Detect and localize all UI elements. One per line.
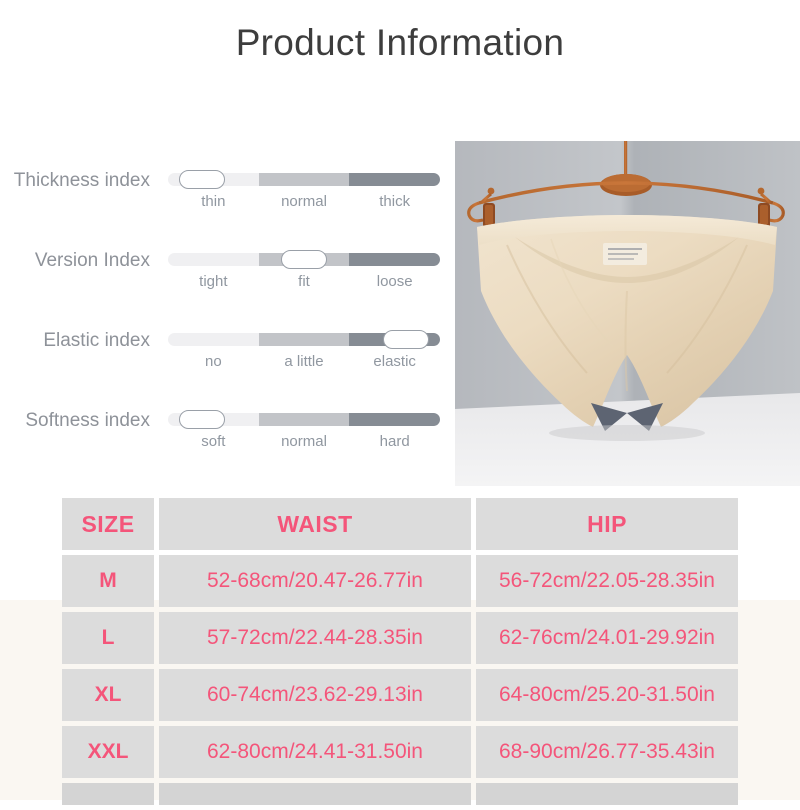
tick-label: hard [349, 433, 440, 450]
cell-size: M [62, 555, 154, 607]
tick-label: loose [349, 273, 440, 290]
cell-size [62, 783, 154, 805]
tick-label: thin [168, 193, 259, 210]
cell-size: L [62, 612, 154, 664]
slider-tick-labels: soft normal hard [168, 433, 440, 450]
slider-tick-labels: tight fit loose [168, 273, 440, 290]
tick-label: thick [349, 193, 440, 210]
cell-waist: 62-80cm/24.41-31.50in [159, 726, 471, 778]
index-row-thickness: Thickness index thin normal thick [0, 160, 455, 240]
index-label: Version Index [0, 250, 150, 272]
slider-knob[interactable] [383, 330, 429, 349]
tick-label: a little [259, 353, 350, 370]
cell-size: XL [62, 669, 154, 721]
index-label: Softness index [0, 410, 150, 432]
table-row: L 57-72cm/22.44-28.35in 62-76cm/24.01-29… [62, 612, 738, 664]
track-segment-mid [259, 333, 350, 346]
product-information-page: Product Information Thickness index thin… [0, 0, 800, 800]
table-row: XL 60-74cm/23.62-29.13in 64-80cm/25.20-3… [62, 669, 738, 721]
cell-hip [476, 783, 738, 805]
table-header-row: SIZE WAIST HIP [62, 498, 738, 550]
slider-knob[interactable] [179, 170, 225, 189]
cell-hip: 62-76cm/24.01-29.92in [476, 612, 738, 664]
cell-size: XXL [62, 726, 154, 778]
slider-tick-labels: no a little elastic [168, 353, 440, 370]
index-row-version: Version Index tight fit loose [0, 240, 455, 320]
slider-knob[interactable] [281, 250, 327, 269]
table-row-partial [62, 783, 738, 805]
slider-knob[interactable] [179, 410, 225, 429]
cell-waist [159, 783, 471, 805]
tick-label: elastic [349, 353, 440, 370]
track-segment-mid [259, 173, 350, 186]
track-segment-high [349, 413, 440, 426]
page-title: Product Information [0, 22, 800, 64]
index-row-softness: Softness index soft normal hard [0, 400, 455, 480]
track-segment-low [168, 333, 259, 346]
cell-waist: 57-72cm/22.44-28.35in [159, 612, 471, 664]
index-slider-group: Thickness index thin normal thick Versio… [0, 160, 455, 480]
track-segment-high [349, 173, 440, 186]
tick-label: fit [259, 273, 350, 290]
track-segment-high [349, 253, 440, 266]
track-segment-low [168, 253, 259, 266]
slider-tick-labels: thin normal thick [168, 193, 440, 210]
tick-label: soft [168, 433, 259, 450]
product-photo [455, 141, 800, 486]
softness-slider[interactable] [168, 413, 440, 426]
cell-waist: 60-74cm/23.62-29.13in [159, 669, 471, 721]
cell-hip: 68-90cm/26.77-35.43in [476, 726, 738, 778]
table-row: XXL 62-80cm/24.41-31.50in 68-90cm/26.77-… [62, 726, 738, 778]
elastic-slider[interactable] [168, 333, 440, 346]
cell-hip: 64-80cm/25.20-31.50in [476, 669, 738, 721]
tick-label: normal [259, 193, 350, 210]
tick-label: normal [259, 433, 350, 450]
index-label: Elastic index [0, 330, 150, 352]
version-slider[interactable] [168, 253, 440, 266]
index-label: Thickness index [0, 170, 150, 192]
index-row-elastic: Elastic index no a little elastic [0, 320, 455, 400]
column-header-hip: HIP [476, 498, 738, 550]
size-chart-table: SIZE WAIST HIP M 52-68cm/20.47-26.77in 5… [62, 498, 738, 810]
track-segment-mid [259, 413, 350, 426]
table-row: M 52-68cm/20.47-26.77in 56-72cm/22.05-28… [62, 555, 738, 607]
tick-label: no [168, 353, 259, 370]
cell-hip: 56-72cm/22.05-28.35in [476, 555, 738, 607]
column-header-size: SIZE [62, 498, 154, 550]
tick-label: tight [168, 273, 259, 290]
cell-waist: 52-68cm/20.47-26.77in [159, 555, 471, 607]
column-header-waist: WAIST [159, 498, 471, 550]
thickness-slider[interactable] [168, 173, 440, 186]
